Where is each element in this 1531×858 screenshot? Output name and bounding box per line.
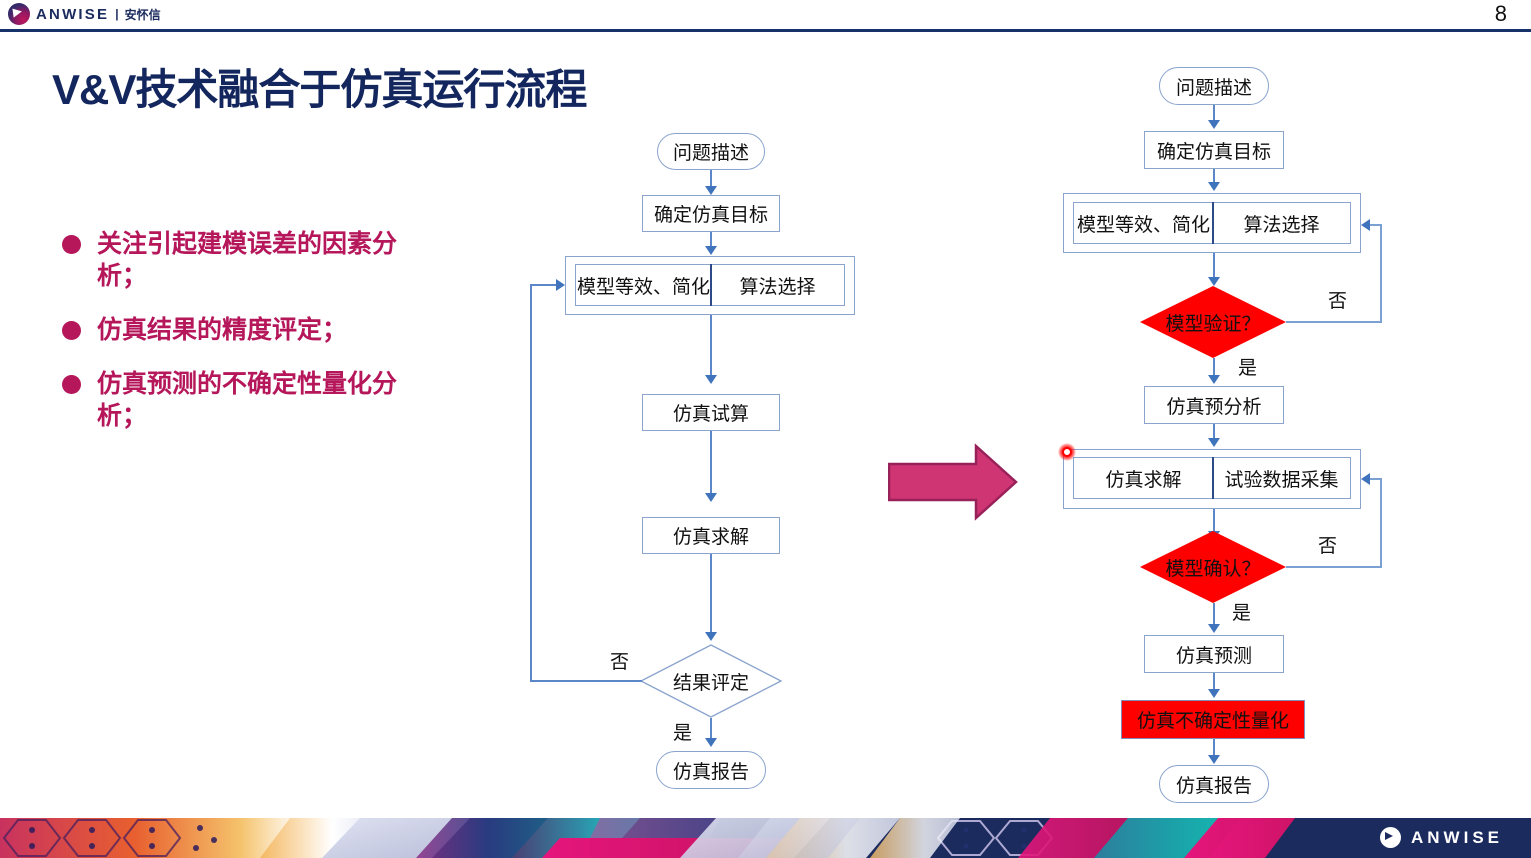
flow-decision-validate: 模型确认？ — [1140, 531, 1286, 603]
arrowhead-icon — [1208, 755, 1220, 764]
edge-validate-no-h — [1286, 566, 1382, 568]
arrowhead-icon — [1208, 689, 1220, 698]
edge-verify-no-h — [1286, 321, 1382, 323]
flow-node-start: 问题描述 — [1159, 67, 1269, 105]
arrowhead-icon — [1361, 473, 1370, 485]
arrowhead-icon — [1208, 438, 1220, 447]
arrowhead-icon — [1208, 120, 1220, 129]
edge-label-no: 否 — [1318, 531, 1337, 558]
arrowhead-icon — [1208, 277, 1220, 286]
slide-footer: ANWISE — [0, 818, 1531, 858]
edge-label-no: 否 — [1328, 286, 1347, 313]
edge-group-to-validate — [1213, 509, 1215, 533]
edge-label-yes: 是 — [1238, 353, 1257, 380]
arrowhead-icon — [1361, 219, 1370, 231]
flow-node-algorithm: 算法选择 — [1213, 202, 1351, 244]
arrowhead-icon — [1208, 375, 1220, 384]
flow-node-predict: 仿真预测 — [1144, 635, 1284, 673]
right-flowchart: 问题描述 确定仿真目标 模型等效、简化 算法选择 模型验证？ 否 是 — [0, 0, 1531, 820]
flow-node-data-collect: 试验数据采集 — [1213, 457, 1351, 499]
flow-decision-label: 模型确认？ — [1140, 531, 1286, 603]
edge-label-yes: 是 — [1232, 598, 1251, 625]
flow-decision-label: 模型验证？ — [1140, 286, 1286, 358]
flow-node-solve: 仿真求解 — [1073, 457, 1213, 499]
arrowhead-icon — [1208, 182, 1220, 191]
arrowhead-icon — [1208, 624, 1220, 633]
flow-group-divider — [1212, 457, 1214, 499]
flow-decision-verify: 模型验证？ — [1140, 286, 1286, 358]
edge-validate-no-into-group — [1370, 478, 1382, 480]
flow-node-model-simplify: 模型等效、简化 — [1073, 202, 1213, 244]
edge-group-to-verify — [1213, 253, 1215, 279]
flow-node-report: 仿真报告 — [1159, 765, 1269, 803]
cursor-position-marker-icon — [1058, 443, 1076, 461]
flow-node-preanalysis: 仿真预分析 — [1144, 386, 1284, 424]
anwise-logo-icon — [1380, 827, 1401, 848]
footer-logo: ANWISE — [1380, 827, 1503, 848]
flow-node-goal: 确定仿真目标 — [1144, 131, 1284, 169]
edge-verify-no-v — [1380, 224, 1382, 322]
flow-group-divider — [1212, 202, 1214, 244]
edge-verify-no-into-group — [1370, 224, 1382, 226]
footer-pattern-icon — [0, 818, 1531, 858]
footer-brand: ANWISE — [1411, 828, 1503, 848]
flow-node-uq: 仿真不确定性量化 — [1121, 700, 1305, 739]
slide-root: ANWISE | 安怀信 8 V&V技术融合于仿真运行流程 关注引起建模误差的因… — [0, 0, 1531, 858]
edge-validate-no-v — [1380, 478, 1382, 568]
